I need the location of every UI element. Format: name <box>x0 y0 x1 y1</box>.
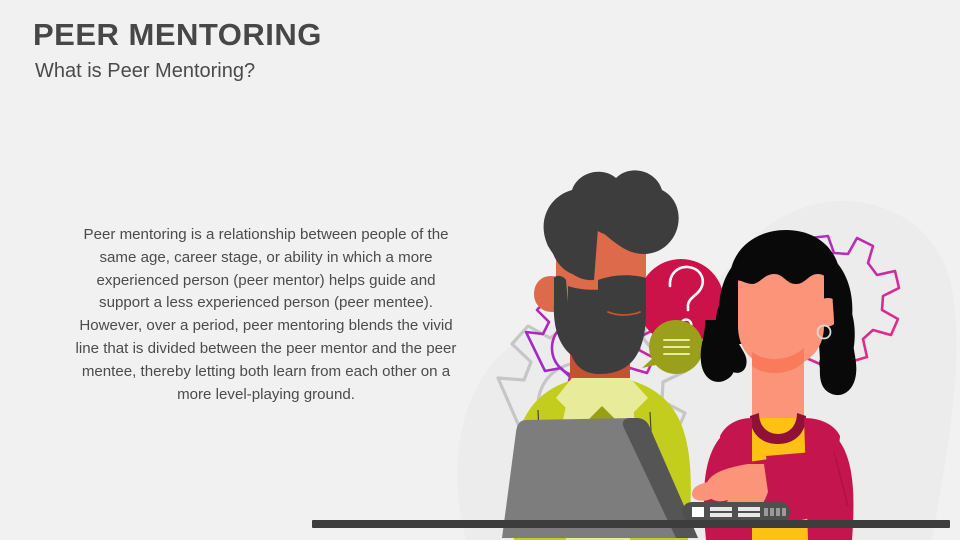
page-title: PEER MENTORING <box>33 17 322 53</box>
laptop-key-2 <box>710 507 732 511</box>
page-subtitle: What is Peer Mentoring? <box>35 60 255 83</box>
laptop-key-3 <box>710 513 732 517</box>
desk-line <box>312 520 950 528</box>
laptop-key-4 <box>738 507 760 511</box>
illustration <box>430 120 960 540</box>
laptop-key-1 <box>692 507 704 517</box>
body-paragraph: Peer mentoring is a relationship between… <box>75 224 457 406</box>
laptop-key-5 <box>738 513 760 517</box>
slide-canvas: PEER MENTORING What is Peer Mentoring? P… <box>0 0 960 540</box>
